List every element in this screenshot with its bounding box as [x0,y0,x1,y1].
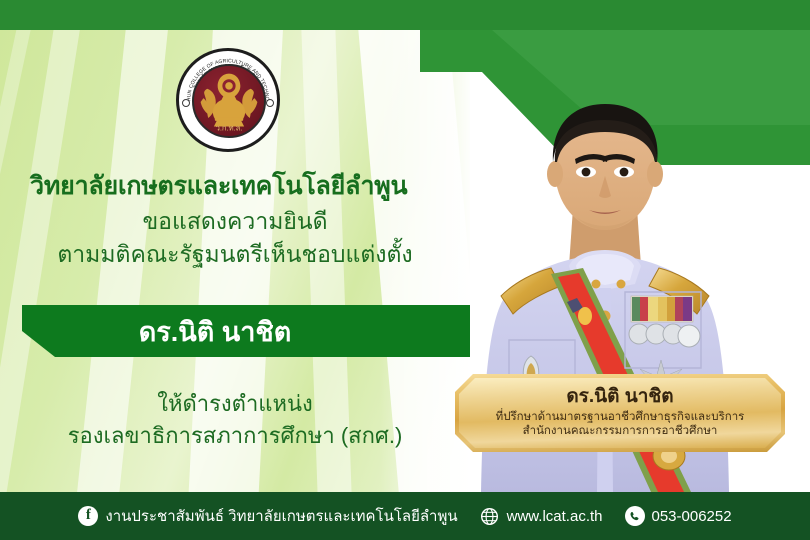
facebook-icon: f [78,506,98,526]
footer-phone[interactable]: 053-006252 [625,506,732,526]
congratulations-poster: LAMPHUN COLLEGE OF AGRICULTURE AND TECHN… [0,0,810,540]
congratulation-text: ขอแสดงความยินดี ตามมติคณะรัฐมนตรีเห็นชอบ… [0,205,470,270]
footer-website[interactable]: www.lcat.ac.th [480,506,603,526]
nameplate-subtitle-line-2: สำนักงานคณะกรรมการการอาชีวศึกษา [496,424,745,438]
seal-monogram: ว.ก.ท.ล. [216,123,243,132]
nameplate-subtitle-line-1: ที่ปรึกษาด้านมาตรฐานอาชีวศึกษาธุรกิจและบ… [496,410,745,424]
congratulation-line-2: ตามมติคณะรัฐมนตรีเห็นชอบแต่งตั้ง [0,238,470,271]
seal-emblem: ว.ก.ท.ล. [192,64,266,138]
footer-website-label: www.lcat.ac.th [507,508,603,525]
globe-icon [480,506,500,526]
congratulation-line-1: ขอแสดงความยินดี [0,205,470,238]
footer-phone-label: 053-006252 [652,508,732,525]
phone-icon [625,506,645,526]
appointment-text: ให้ดำรงตำแหน่ง รองเลขาธิการสภาการศึกษา (… [0,388,470,452]
top-bar [0,0,810,30]
appointment-line-1: ให้ดำรงตำแหน่ง [0,388,470,420]
seal-dot-right [266,99,274,107]
college-seal: LAMPHUN COLLEGE OF AGRICULTURE AND TECHN… [176,48,280,152]
nameplate-subtitle: ที่ปรึกษาด้านมาตรฐานอาชีวศึกษาธุรกิจและบ… [496,410,745,439]
honoree-name: ดร.นิติ นาชิต [0,305,430,357]
footer-facebook-label: งานประชาสัมพันธ์ วิทยาลัยเกษตรและเทคโนโล… [105,504,457,528]
gold-nameplate-content: ดร.นิติ นาชิต ที่ปรึกษาด้านมาตรฐานอาชีวศ… [455,374,785,452]
seal-dot-left [182,99,190,107]
facebook-glyph: f [78,506,98,526]
appointment-line-2: รองเลขาธิการสภาการศึกษา (สกศ.) [0,420,470,452]
institution-name: วิทยาลัยเกษตรและเทคโนโลยีลำพูน [30,166,460,206]
phone-circle [625,506,645,526]
footer-bar: f งานประชาสัมพันธ์ วิทยาลัยเกษตรและเทคโน… [0,492,810,540]
nameplate-name: ดร.นิติ นาชิต [566,387,673,408]
footer-facebook[interactable]: f งานประชาสัมพันธ์ วิทยาลัยเกษตรและเทคโน… [78,504,457,528]
